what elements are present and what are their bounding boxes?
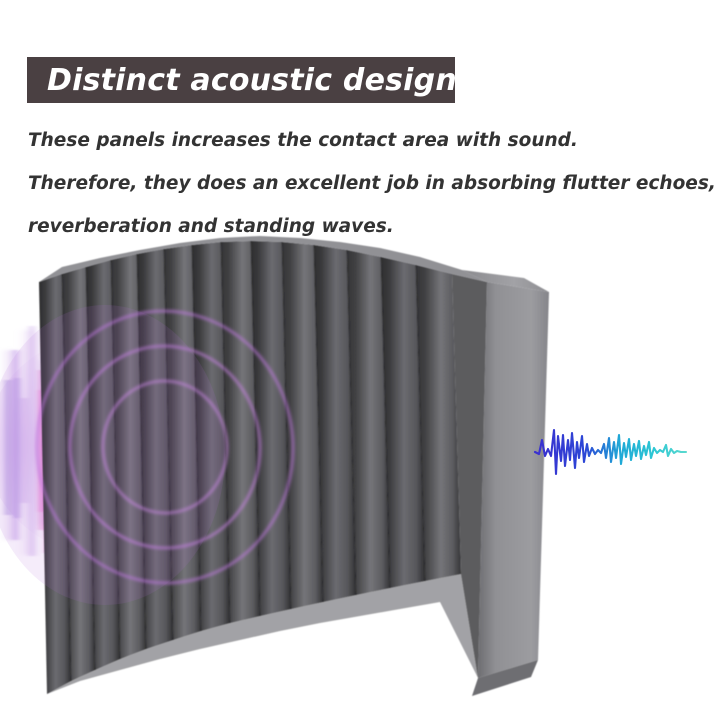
page-title: Distinct acoustic design: [47, 63, 457, 98]
purple-equalizer-wave: [0, 290, 255, 594]
panel-top-cap: [462, 270, 549, 292]
panel-bottom-cap: [472, 660, 538, 696]
panel-bottom-edge-strip: [47, 574, 478, 694]
page-title-banner: Distinct acoustic design: [27, 57, 455, 103]
panel-top-edge-strip: [39, 236, 487, 282]
attenuated-waveform: [535, 430, 686, 474]
promo-image-canvas: Distinct acoustic design These panels in…: [0, 0, 720, 720]
description-line-1: These panels increases the contact area …: [28, 119, 700, 162]
product-illustration: [0, 230, 720, 720]
panel-side-face: [478, 282, 549, 678]
description-block: These panels increases the contact area …: [28, 119, 700, 248]
concentric-sound-rings: [0, 302, 302, 605]
acoustic-foam-wedge-panel: [39, 236, 549, 696]
description-line-2: Therefore, they does an excellent job in…: [28, 162, 700, 205]
panel-valley-shadows: [62, 241, 425, 681]
panel-wedges: [39, 241, 487, 694]
